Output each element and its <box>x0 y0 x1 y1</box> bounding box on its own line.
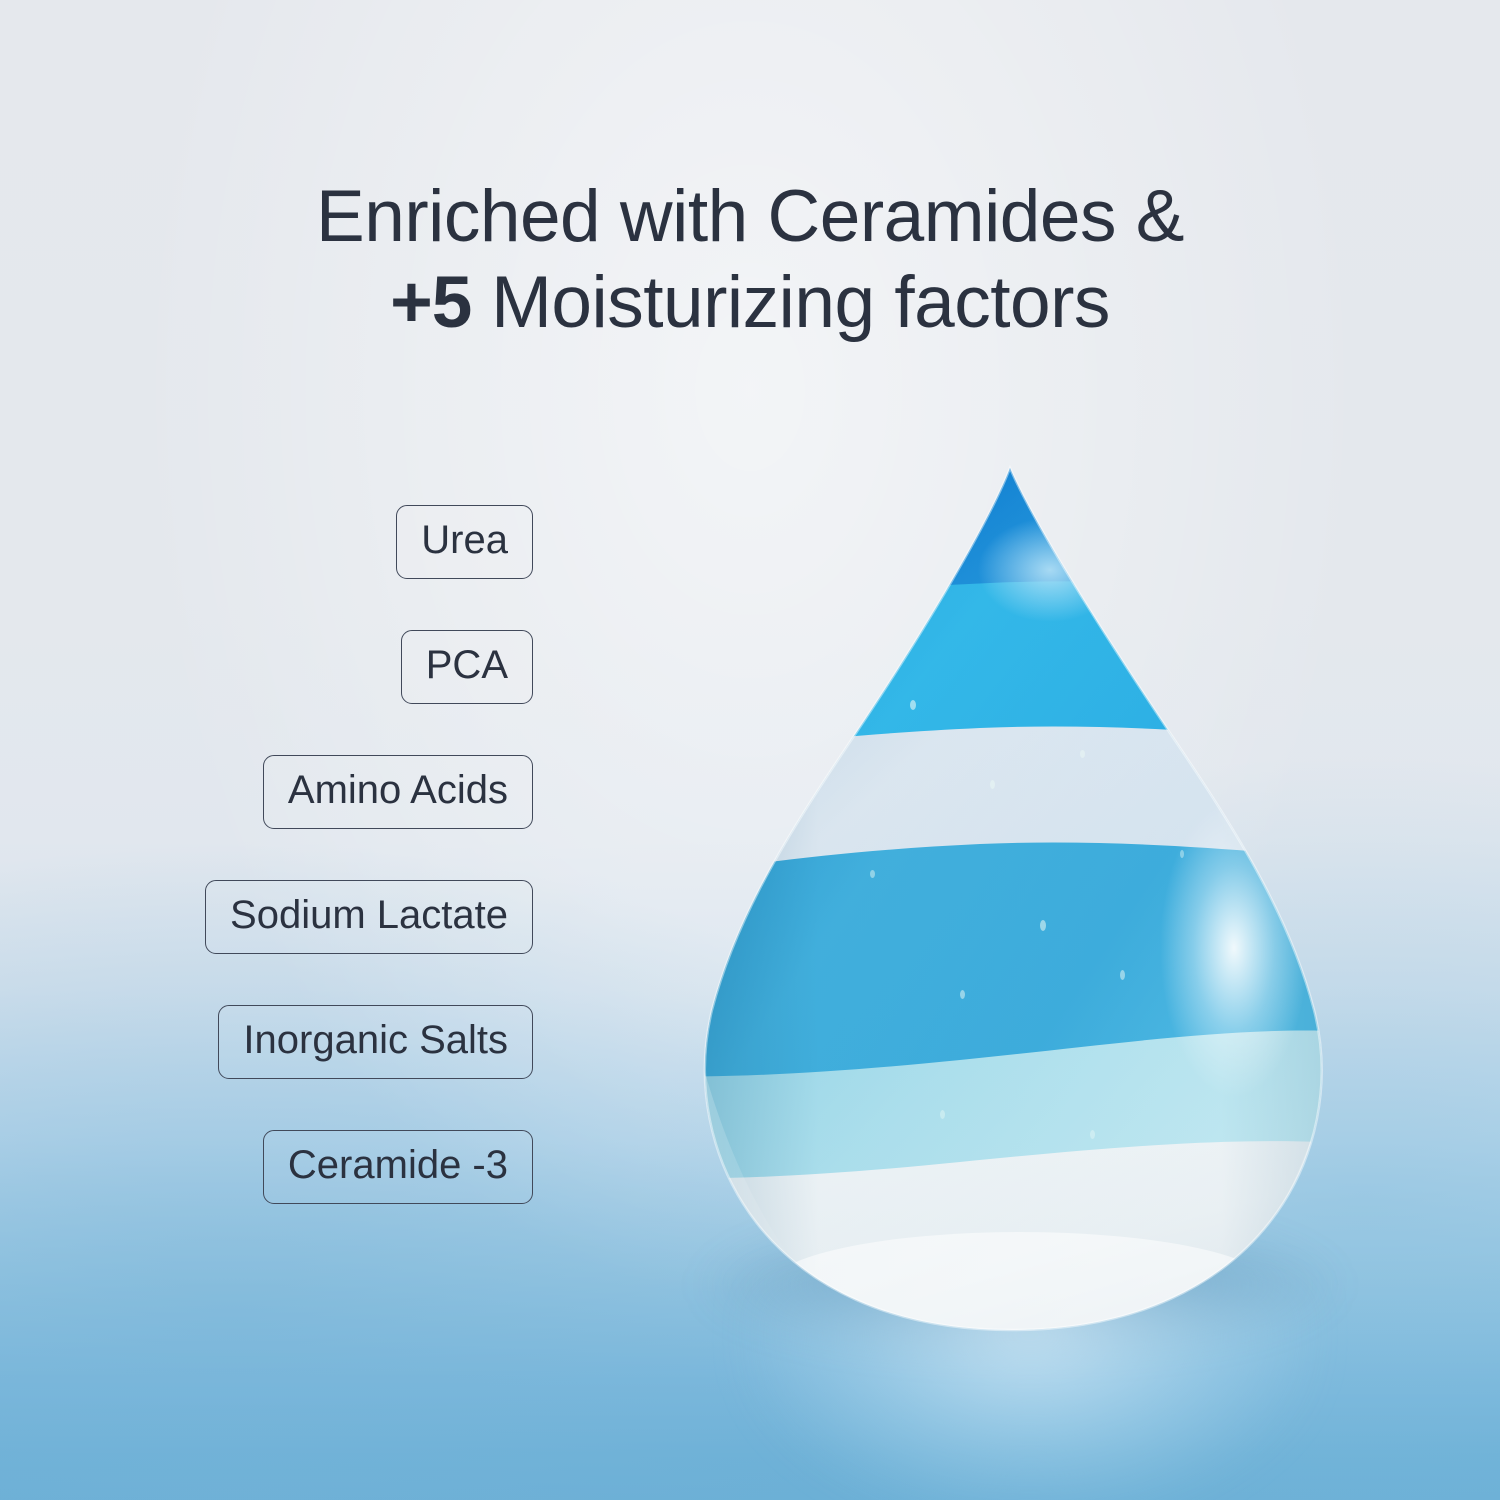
headline: Enriched with Ceramides & +5 Moisturizin… <box>0 174 1500 346</box>
gel-speck <box>940 1110 945 1119</box>
gel-speck <box>1040 920 1046 931</box>
gel-speck <box>1180 850 1184 858</box>
ingredient-chip-sodium-lactate[interactable]: Sodium Lactate <box>205 880 533 954</box>
droplet-tip-gloss <box>978 518 1122 622</box>
gel-speck <box>870 870 875 878</box>
water-droplet-illustration <box>660 450 1380 1370</box>
droplet-svg <box>660 450 1380 1370</box>
ingredient-chip-urea[interactable]: Urea <box>396 505 533 579</box>
gel-speck <box>1080 750 1085 758</box>
ingredient-chip-inorganic-salts[interactable]: Inorganic Salts <box>218 1005 533 1079</box>
droplet-highlight-upper-right <box>1206 642 1310 858</box>
gel-speck <box>1120 970 1125 980</box>
headline-line-2: +5 Moisturizing factors <box>0 260 1500 346</box>
ingredient-chip-ceramide-3[interactable]: Ceramide -3 <box>263 1130 533 1204</box>
ingredient-chip-list: Urea PCA Amino Acids Sodium Lactate Inor… <box>0 505 533 1204</box>
ingredient-chip-pca[interactable]: PCA <box>401 630 533 704</box>
headline-line-1: Enriched with Ceramides & <box>316 176 1184 257</box>
ingredient-chip-amino-acids[interactable]: Amino Acids <box>263 755 533 829</box>
headline-line-2-rest: Moisturizing factors <box>471 262 1110 343</box>
gel-speck <box>910 700 916 710</box>
gel-speck <box>990 780 995 789</box>
gel-speck <box>1090 1130 1095 1139</box>
headline-accent-plus5: +5 <box>390 262 471 343</box>
gel-speck <box>960 990 965 999</box>
infographic-canvas: Enriched with Ceramides & +5 Moisturizin… <box>0 0 1500 1500</box>
